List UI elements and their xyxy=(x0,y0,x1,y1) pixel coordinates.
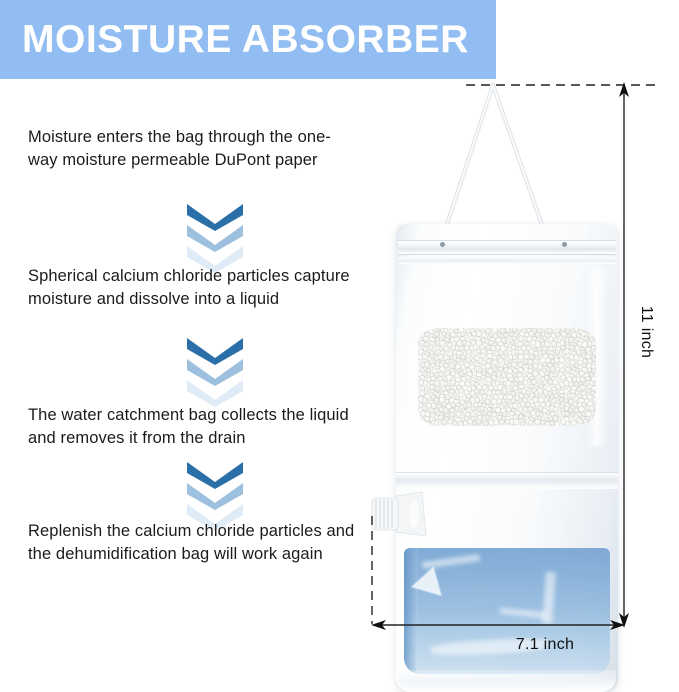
chevron-down-icon xyxy=(184,377,246,407)
step-text-4: Replenish the calcium chloride particles… xyxy=(28,520,358,566)
dimension-height-label: 11 inch xyxy=(637,306,655,359)
absorber-bag xyxy=(396,224,618,692)
header-banner: MOISTURE ABSORBER xyxy=(0,0,496,79)
bag-mid-seam xyxy=(396,472,618,489)
water-highlight xyxy=(542,572,556,625)
chevron-group-1 xyxy=(184,201,246,271)
step-text-1: Moisture enters the bag through the one-… xyxy=(28,126,358,172)
water-highlight xyxy=(422,554,480,569)
water-chamber xyxy=(404,548,610,674)
drain-spout-cap xyxy=(370,490,434,538)
step-text-2: Spherical calcium chloride particles cap… xyxy=(28,265,358,311)
bag-highlight-left xyxy=(404,284,416,434)
cord-grommet-right xyxy=(562,242,567,247)
steps-column: Moisture enters the bag through the one-… xyxy=(0,79,372,659)
page-title: MOISTURE ABSORBER xyxy=(22,20,469,59)
dimension-width-label: 7.1 inch xyxy=(516,636,574,654)
bag-bottom-gusset xyxy=(398,670,616,692)
water-highlight xyxy=(500,608,546,619)
bag-zipper-seal xyxy=(398,240,616,255)
product-image xyxy=(360,72,650,632)
infographic-root: MOISTURE ABSORBER Moisture enters the ba… xyxy=(0,0,679,659)
chevron-group-3 xyxy=(184,459,246,529)
step-text-3: The water catchment bag collects the liq… xyxy=(28,404,358,450)
cord-grommet-left xyxy=(440,242,445,247)
bag-seal-secondary xyxy=(398,257,616,264)
chevron-group-2 xyxy=(184,335,246,405)
calcium-chloride-beads xyxy=(418,328,596,426)
